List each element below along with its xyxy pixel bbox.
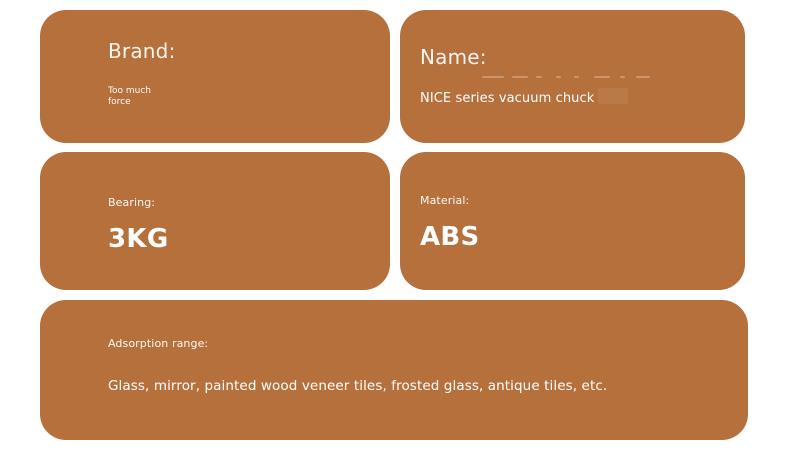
material-value: ABS bbox=[420, 222, 480, 252]
erased-content-smudge bbox=[598, 88, 628, 104]
material-label: Material: bbox=[420, 194, 469, 207]
name-value: NICE series vacuum chuck bbox=[420, 91, 594, 106]
brand-description: Too much force bbox=[108, 86, 151, 108]
card-material: Material: ABS bbox=[400, 152, 745, 290]
brand-heading: Brand: bbox=[108, 39, 176, 63]
card-name: Name: NICE series vacuum chuck bbox=[400, 10, 745, 143]
bearing-label: Bearing: bbox=[108, 196, 155, 209]
erased-content-artifact bbox=[478, 72, 658, 84]
card-adsorption-range: Adsorption range: Glass, mirror, painted… bbox=[40, 300, 748, 440]
card-bearing: Bearing: 3KG bbox=[40, 152, 390, 290]
bearing-value: 3KG bbox=[108, 224, 168, 254]
adsorption-range-value: Glass, mirror, painted wood veneer tiles… bbox=[108, 378, 607, 394]
card-brand: Brand: Too much force bbox=[40, 10, 390, 143]
spec-card-board: Brand: Too much force Name: NICE series … bbox=[0, 0, 790, 457]
name-heading: Name: bbox=[420, 45, 487, 69]
adsorption-range-label: Adsorption range: bbox=[108, 337, 208, 350]
